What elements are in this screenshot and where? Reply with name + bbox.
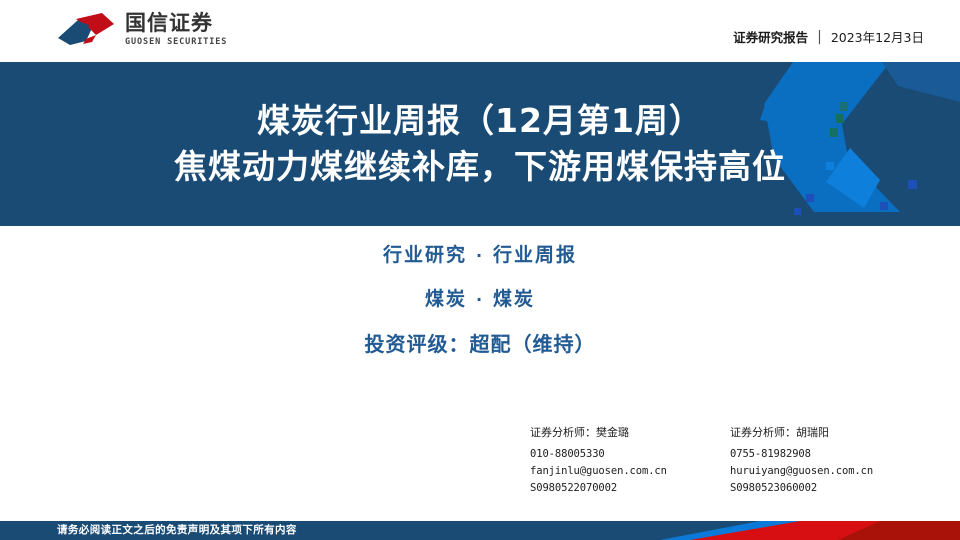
report-cover-page: 国信证券 GUOSEN SECURITIES 证券研究报告 | 2023年12月… — [0, 0, 960, 540]
header-separator: | — [817, 29, 822, 45]
guosen-logo-icon — [56, 11, 116, 49]
analyst-email[interactable]: fanjinlu@guosen.com.cn — [530, 463, 730, 480]
report-title-line-2: 焦煤动力煤继续补库，下游用煤保持高位 — [174, 145, 786, 189]
analyst-card: 证券分析师：胡瑞阳 0755-81982908 huruiyang@guosen… — [730, 424, 930, 497]
investment-rating: 投资评级：超配（维持） — [365, 328, 596, 357]
title-banner: 煤炭行业周报（12月第1周） 焦煤动力煤继续补库，下游用煤保持高位 — [0, 62, 960, 226]
analyst-license-number: S0980522070002 — [530, 480, 730, 497]
footer-disclaimer: 请务必阅读正文之后的免责声明及其项下所有内容 — [57, 521, 297, 540]
research-type-label: 行业研究 — [383, 244, 467, 266]
analyst-phone: 0755-81982908 — [730, 446, 930, 463]
analyst-contact-block: 证券分析师：樊金璐 010-88005330 fanjinlu@guosen.c… — [530, 424, 930, 497]
sub-industry-label: 煤炭 — [493, 288, 535, 310]
research-category-row: 行业研究·行业周报 — [383, 240, 577, 267]
analyst-phone: 010-88005330 — [530, 446, 730, 463]
analyst-name: 证券分析师：樊金璐 — [530, 424, 730, 440]
report-date: 2023年12月3日 — [831, 27, 924, 46]
industry-label: 煤炭 — [425, 288, 467, 310]
brand-logo: 国信证券 GUOSEN SECURITIES — [56, 11, 227, 49]
page-header: 国信证券 GUOSEN SECURITIES 证券研究报告 | 2023年12月… — [0, 0, 960, 62]
analyst-card: 证券分析师：樊金璐 010-88005330 fanjinlu@guosen.c… — [530, 424, 730, 497]
category-separator-dot-2: · — [467, 290, 493, 309]
page-footer: 请务必阅读正文之后的免责声明及其项下所有内容 — [0, 521, 960, 540]
industry-category-row: 煤炭·煤炭 — [425, 284, 535, 311]
report-title-block: 煤炭行业周报（12月第1周） 焦煤动力煤继续补库，下游用煤保持高位 — [0, 62, 960, 226]
brand-name-en: GUOSEN SECURITIES — [125, 38, 227, 47]
brand-name-cn: 国信证券 — [125, 13, 227, 34]
report-type-label: 证券研究报告 — [733, 27, 808, 46]
analyst-license-number: S0980523060002 — [730, 480, 930, 497]
analyst-name: 证券分析师：胡瑞阳 — [730, 424, 930, 440]
category-separator-dot-1: · — [467, 246, 493, 265]
analyst-email[interactable]: huruiyang@guosen.com.cn — [730, 463, 930, 480]
report-frequency-label: 行业周报 — [493, 244, 577, 266]
report-classification-block: 行业研究·行业周报 煤炭·煤炭 投资评级：超配（维持） — [0, 240, 960, 357]
brand-logo-text: 国信证券 GUOSEN SECURITIES — [125, 13, 227, 47]
header-meta: 证券研究报告 | 2023年12月3日 — [733, 27, 924, 46]
report-title-line-1: 煤炭行业周报（12月第1周） — [257, 99, 703, 143]
